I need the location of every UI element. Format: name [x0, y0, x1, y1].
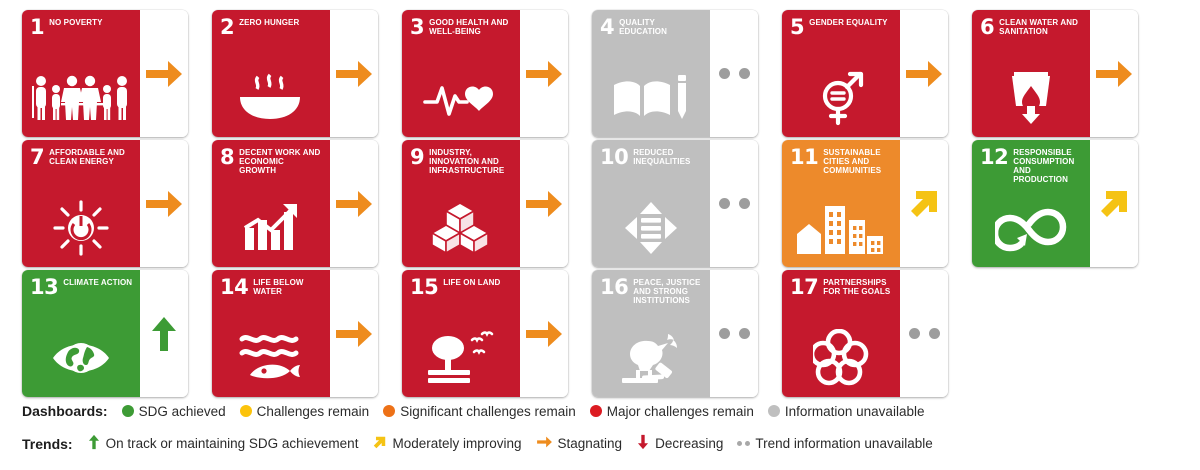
sdg-tile: 8DECENT WORK AND ECONOMIC GROWTH: [212, 140, 330, 267]
sdg-number: 12: [980, 148, 1008, 167]
trends-legend-label: Trends:: [22, 436, 73, 452]
bowl-steam-icon: [212, 65, 330, 131]
trend-indicator-15[interactable]: [520, 270, 568, 397]
sdg-card-15[interactable]: 15LIFE ON LAND: [402, 270, 568, 397]
sdg-card-4[interactable]: 4QUALITY EDUCATION: [592, 10, 758, 137]
sdg-tile: 3GOOD HEALTH AND WELL-BEING: [402, 10, 520, 137]
trend-indicator-10[interactable]: [710, 140, 758, 267]
arrow-up-right-icon: [372, 435, 387, 453]
sdg-number: 10: [600, 148, 628, 167]
sdg-title: AFFORDABLE AND CLEAN ENERGY: [49, 148, 133, 167]
infinity-loop-icon: [972, 195, 1090, 261]
trends-legend-text: On track or maintaining SDG achievement: [106, 436, 359, 451]
sdg-title: QUALITY EDUCATION: [619, 18, 703, 37]
trend-indicator-7[interactable]: [140, 140, 188, 267]
arrow-down-icon: [636, 434, 650, 453]
sdg-tile: 4QUALITY EDUCATION: [592, 10, 710, 137]
dove-gavel-icon: [592, 325, 710, 391]
family-icon: [22, 65, 140, 131]
sdg-number: 2: [220, 18, 234, 37]
sdg-title: PARTNERSHIPS FOR THE GOALS: [823, 278, 893, 297]
sdg-title: LIFE ON LAND: [443, 278, 500, 288]
sdg-number: 6: [980, 18, 994, 37]
arrow-right-icon: [904, 57, 944, 91]
trend-indicator-17[interactable]: [900, 270, 948, 397]
trend-indicator-16[interactable]: [710, 270, 758, 397]
gender-symbol-icon: [782, 65, 900, 131]
arrow-right-icon: [524, 187, 564, 221]
arrow-up-right-icon: [907, 187, 941, 221]
red-dot-icon: [590, 405, 602, 417]
tree-birds-icon: [402, 325, 520, 391]
sdg-tile: 11SUSTAINABLE CITIES AND COMMUNITIES: [782, 140, 900, 267]
dashboards-legend-item: Major challenges remain: [590, 404, 754, 419]
dashboards-legend-text: Major challenges remain: [607, 404, 754, 419]
two-dots-icon: [719, 68, 750, 79]
sdg-title: CLIMATE ACTION: [63, 278, 132, 288]
arrow-right-icon: [334, 317, 374, 351]
sdg-title: DECENT WORK AND ECONOMIC GROWTH: [239, 148, 323, 176]
dashboards-legend-item: Information unavailable: [768, 404, 925, 419]
sdg-title: PEACE, JUSTICE AND STRONG INSTITUTIONS: [633, 278, 703, 306]
city-buildings-icon: [782, 195, 900, 261]
cubes-icon: [402, 195, 520, 261]
sdg-goal-grid: 1NO POVERTY 2ZERO HUNGER 3GOOD HEALTH AN…: [22, 10, 1192, 400]
fish-waves-icon: [212, 325, 330, 391]
sdg-number: 11: [790, 148, 818, 167]
sdg-card-10[interactable]: 10REDUCED INEQUALITIES: [592, 140, 758, 267]
sdg-card-16[interactable]: 16PEACE, JUSTICE AND STRONG INSTITUTIONS: [592, 270, 758, 397]
trend-indicator-5[interactable]: [900, 10, 948, 137]
sdg-tile: 17PARTNERSHIPS FOR THE GOALS: [782, 270, 900, 397]
sdg-number: 14: [220, 278, 248, 297]
trend-indicator-3[interactable]: [520, 10, 568, 137]
trend-indicator-9[interactable]: [520, 140, 568, 267]
two-dots-icon: [737, 441, 750, 446]
dashboards-legend-item: SDG achieved: [122, 404, 226, 419]
growth-chart-icon: [212, 195, 330, 261]
sdg-title: GOOD HEALTH AND WELL-BEING: [429, 18, 513, 37]
sdg-card-17[interactable]: 17PARTNERSHIPS FOR THE GOALS: [782, 270, 948, 397]
water-glass-drop-icon: [972, 65, 1090, 131]
sdg-card-9[interactable]: 9INDUSTRY, INNOVATION AND INFRASTRUCTURE: [402, 140, 568, 267]
dashboards-legend-item: Significant challenges remain: [383, 404, 576, 419]
sdg-card-12[interactable]: 12RESPONSIBLE CONSUMPTION AND PRODUCTION: [972, 140, 1138, 267]
sdg-number: 17: [790, 278, 818, 297]
eye-globe-icon: [22, 325, 140, 391]
dashboards-legend: Dashboards: SDG achievedChallenges remai…: [22, 403, 924, 419]
trend-indicator-13[interactable]: [140, 270, 188, 397]
sdg-title: GENDER EQUALITY: [809, 18, 887, 28]
trends-legend-text: Decreasing: [655, 436, 723, 451]
dashboards-legend-text: Information unavailable: [785, 404, 925, 419]
green-dot-icon: [122, 405, 134, 417]
sdg-tile: 2ZERO HUNGER: [212, 10, 330, 137]
trend-indicator-4[interactable]: [710, 10, 758, 137]
sdg-tile: 10REDUCED INEQUALITIES: [592, 140, 710, 267]
sdg-card-3[interactable]: 3GOOD HEALTH AND WELL-BEING: [402, 10, 568, 137]
sdg-card-7[interactable]: 7AFFORDABLE AND CLEAN ENERGY: [22, 140, 188, 267]
two-dots-icon: [909, 328, 940, 339]
sdg-card-14[interactable]: 14LIFE BELOW WATER: [212, 270, 378, 397]
arrow-right-icon: [334, 57, 374, 91]
gray-dot-icon: [768, 405, 780, 417]
trend-indicator-14[interactable]: [330, 270, 378, 397]
sdg-title: REDUCED INEQUALITIES: [633, 148, 703, 167]
trends-legend-item: Decreasing: [636, 434, 723, 453]
trends-legend-text: Trend information unavailable: [755, 436, 932, 451]
sdg-title: INDUSTRY, INNOVATION AND INFRASTRUCTURE: [429, 148, 513, 176]
sdg-tile: 7AFFORDABLE AND CLEAN ENERGY: [22, 140, 140, 267]
arrow-right-icon: [524, 57, 564, 91]
sdg-number: 5: [790, 18, 804, 37]
arrow-right-icon: [334, 187, 374, 221]
sdg-title: RESPONSIBLE CONSUMPTION AND PRODUCTION: [1013, 148, 1083, 185]
equal-arrows-icon: [592, 195, 710, 261]
arrow-up-icon: [87, 434, 101, 453]
arrow-up-icon: [148, 315, 180, 353]
trend-indicator-1[interactable]: [140, 10, 188, 137]
sdg-card-5[interactable]: 5GENDER EQUALITY: [782, 10, 948, 137]
sdg-title: ZERO HUNGER: [239, 18, 299, 28]
trend-indicator-2[interactable]: [330, 10, 378, 137]
sdg-number: 1: [30, 18, 44, 37]
sdg-card-13[interactable]: 13CLIMATE ACTION: [22, 270, 188, 397]
arrow-up-right-icon: [1097, 187, 1131, 221]
sdg-card-2[interactable]: 2ZERO HUNGER: [212, 10, 378, 137]
trends-legend-item: On track or maintaining SDG achievement: [87, 434, 359, 453]
dashboards-legend-text: Challenges remain: [257, 404, 370, 419]
sdg-number: 13: [30, 278, 58, 297]
trends-legend-text: Stagnating: [558, 436, 623, 451]
dashboards-legend-text: SDG achieved: [139, 404, 226, 419]
dashboards-legend-label: Dashboards:: [22, 403, 108, 419]
sdg-tile: 6CLEAN WATER AND SANITATION: [972, 10, 1090, 137]
two-dots-icon: [719, 198, 750, 209]
sdg-dashboard: 1NO POVERTY 2ZERO HUNGER 3GOOD HEALTH AN…: [0, 0, 1200, 470]
arrow-right-icon: [1094, 57, 1134, 91]
sdg-title: SUSTAINABLE CITIES AND COMMUNITIES: [823, 148, 893, 176]
sdg-tile: 9INDUSTRY, INNOVATION AND INFRASTRUCTURE: [402, 140, 520, 267]
sdg-card-1[interactable]: 1NO POVERTY: [22, 10, 188, 137]
sdg-card-6[interactable]: 6CLEAN WATER AND SANITATION: [972, 10, 1138, 137]
sdg-tile: 5GENDER EQUALITY: [782, 10, 900, 137]
trend-indicator-6[interactable]: [1090, 10, 1138, 137]
sdg-number: 7: [30, 148, 44, 167]
trends-legend-text: Moderately improving: [392, 436, 521, 451]
sdg-tile: 12RESPONSIBLE CONSUMPTION AND PRODUCTION: [972, 140, 1090, 267]
sdg-card-8[interactable]: 8DECENT WORK AND ECONOMIC GROWTH: [212, 140, 378, 267]
arrow-right-icon: [536, 435, 553, 452]
dashboards-legend-text: Significant challenges remain: [400, 404, 576, 419]
dashboards-legend-item: Challenges remain: [240, 404, 370, 419]
trends-legend-item: Moderately improving: [372, 435, 521, 453]
trend-indicator-8[interactable]: [330, 140, 378, 267]
trends-legend-item: Trend information unavailable: [737, 436, 932, 451]
sdg-tile: 1NO POVERTY: [22, 10, 140, 137]
sdg-number: 4: [600, 18, 614, 37]
trends-legend: Trends: On track or maintaining SDG achi…: [22, 434, 933, 453]
two-dots-icon: [719, 328, 750, 339]
sdg-title: NO POVERTY: [49, 18, 102, 28]
sdg-number: 9: [410, 148, 424, 167]
arrow-right-icon: [144, 187, 184, 221]
yellow-dot-icon: [240, 405, 252, 417]
orange-dot-icon: [383, 405, 395, 417]
heartbeat-icon: [402, 65, 520, 131]
sdg-tile: 13CLIMATE ACTION: [22, 270, 140, 397]
book-pencil-icon: [592, 65, 710, 131]
trends-legend-item: Stagnating: [536, 435, 623, 452]
sdg-number: 16: [600, 278, 628, 297]
sdg-number: 15: [410, 278, 438, 297]
sdg-tile: 16PEACE, JUSTICE AND STRONG INSTITUTIONS: [592, 270, 710, 397]
sdg-title: CLEAN WATER AND SANITATION: [999, 18, 1083, 37]
circles-ring-icon: [782, 325, 900, 391]
sdg-number: 3: [410, 18, 424, 37]
arrow-right-icon: [144, 57, 184, 91]
trend-indicator-12[interactable]: [1090, 140, 1138, 267]
sdg-tile: 15LIFE ON LAND: [402, 270, 520, 397]
sdg-number: 8: [220, 148, 234, 167]
sdg-tile: 14LIFE BELOW WATER: [212, 270, 330, 397]
sdg-card-11[interactable]: 11SUSTAINABLE CITIES AND COMMUNITIES: [782, 140, 948, 267]
trend-indicator-11[interactable]: [900, 140, 948, 267]
sdg-title: LIFE BELOW WATER: [253, 278, 323, 297]
arrow-right-icon: [524, 317, 564, 351]
sun-power-icon: [22, 195, 140, 261]
